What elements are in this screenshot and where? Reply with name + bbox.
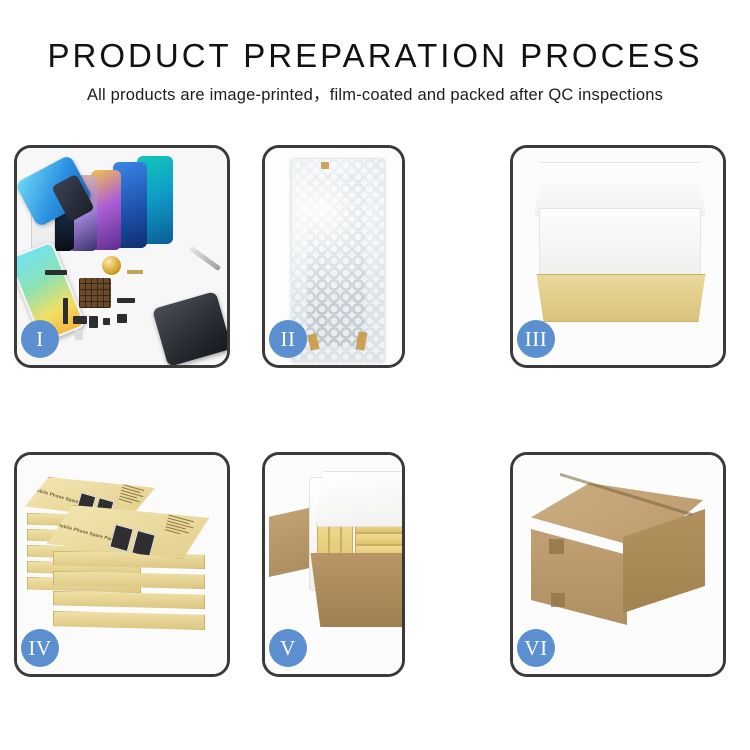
step-4-badge: IV	[21, 629, 59, 667]
page-title: PRODUCT PREPARATION PROCESS	[0, 36, 750, 76]
step-3-badge: III	[517, 320, 555, 358]
step-5-badge: V	[269, 629, 307, 667]
page-subtitle: All products are image-printed，film-coat…	[0, 84, 750, 106]
process-step-4[interactable]: Mobile Phone Spare Parts Mobile Phone Sp…	[14, 452, 230, 677]
process-step-2[interactable]: II	[262, 145, 405, 368]
step-2-badge: II	[269, 320, 307, 358]
process-step-5[interactable]: V	[262, 452, 405, 677]
process-step-3[interactable]: III	[510, 145, 726, 368]
step-4-box-label-2: Mobile Phone Spare Parts	[56, 522, 117, 543]
process-step-1[interactable]: I	[14, 145, 230, 368]
step-1-badge: I	[21, 320, 59, 358]
process-step-6[interactable]: VI	[510, 452, 726, 677]
step-6-badge: VI	[517, 629, 555, 667]
process-panel-grid: I II III	[14, 145, 736, 677]
page-header: PRODUCT PREPARATION PROCESS All products…	[0, 0, 750, 106]
